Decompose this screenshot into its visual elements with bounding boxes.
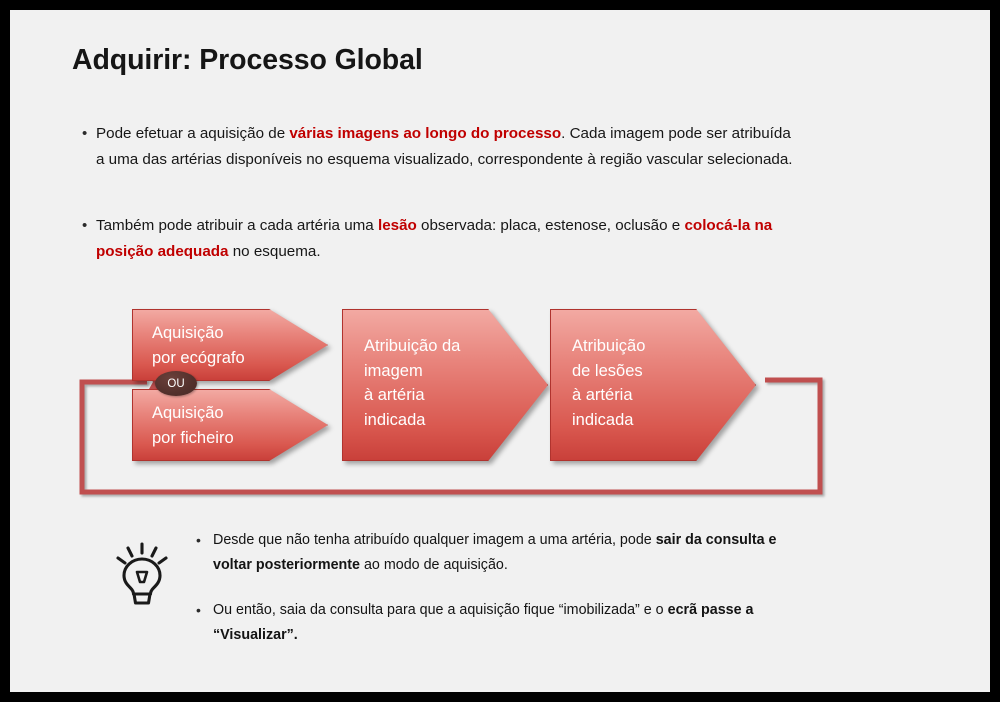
bullet-text-2: Também pode atribuir a cada artéria uma … xyxy=(96,213,801,264)
text-segment: no esquema. xyxy=(229,243,321,260)
bottom-bullet-item-1: • Desde que não tenha atribuído qualquer… xyxy=(196,528,793,578)
process-step-label: Atribuição de lesões à artéria indicada xyxy=(572,334,645,432)
slide-canvas: Adquirir: Processo Global • Pode efetuar… xyxy=(10,10,990,692)
process-step-aquisicao-ficheiro[interactable]: Aquisição por ficheiro xyxy=(132,389,328,461)
process-step-atribuicao-imagem[interactable]: Atribuição da imagem à artéria indicada xyxy=(342,309,548,461)
text-segment: Pode efetuar a aquisição de xyxy=(96,125,289,142)
bottom-bullet-text-2: Ou então, saia da consulta para que a aq… xyxy=(213,598,793,648)
process-step-atribuicao-lesoes[interactable]: Atribuição de lesões à artéria indicada xyxy=(550,309,756,461)
bullet-marker: • xyxy=(196,528,213,553)
process-step-label: Aquisição por ficheiro xyxy=(152,401,234,450)
bullet-text-1: Pode efetuar a aquisição de várias image… xyxy=(96,121,801,172)
text-segment: observada: placa, estenose, oclusão e xyxy=(417,217,685,234)
text-segment: várias imagens ao longo do processo xyxy=(289,125,561,142)
bullet-item-1: • Pode efetuar a aquisição de várias ima… xyxy=(82,121,801,172)
lightbulb-icon xyxy=(111,540,173,608)
text-segment: lesão xyxy=(378,217,417,234)
bullet-item-2: • Também pode atribuir a cada artéria um… xyxy=(82,213,801,264)
bullet-marker: • xyxy=(82,121,96,147)
text-segment: ao modo de aquisição. xyxy=(360,557,508,573)
process-step-label: Aquisição por ecógrafo xyxy=(152,321,245,370)
bullet-marker: • xyxy=(196,598,213,623)
bottom-bullet-item-2: • Ou então, saia da consulta para que a … xyxy=(196,598,793,648)
text-segment: Desde que não tenha atribuído qualquer i… xyxy=(213,532,656,548)
text-segment: Ou então, saia da consulta para que a aq… xyxy=(213,602,668,618)
bullet-marker: • xyxy=(82,213,96,239)
process-step-aquisicao-ecografo[interactable]: Aquisição por ecógrafo xyxy=(132,309,328,381)
text-segment: Também pode atribuir a cada artéria uma xyxy=(96,217,378,234)
ou-badge: OU xyxy=(155,371,197,396)
page-title: Adquirir: Processo Global xyxy=(72,44,423,77)
bottom-bullet-text-1: Desde que não tenha atribuído qualquer i… xyxy=(213,528,793,578)
process-step-label: Atribuição da imagem à artéria indicada xyxy=(364,334,460,432)
